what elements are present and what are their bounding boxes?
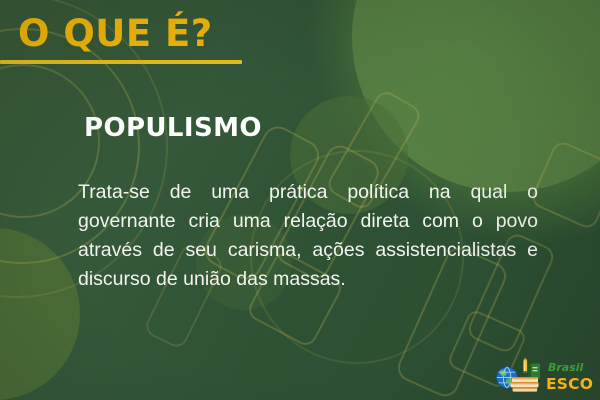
books-icon xyxy=(511,377,539,392)
content-block: POPULISMO Trata-se de uma prática políti… xyxy=(78,112,538,294)
pencil-icon xyxy=(523,357,527,373)
definition-paragraph: Trata-se de uma prática política na qual… xyxy=(78,178,538,294)
topic-heading: POPULISMO xyxy=(84,112,538,144)
logo-brand-top: Brasil xyxy=(548,361,584,374)
logo-brand-bottom: ESCOLA xyxy=(546,375,594,393)
slide-title: O QUE É? xyxy=(0,12,246,56)
brasil-escola-logo[interactable]: Brasil ESCOLA xyxy=(494,356,594,396)
slide-canvas: O QUE É? POPULISMO Trata-se de uma práti… xyxy=(0,0,600,400)
title-block: O QUE É? xyxy=(0,12,246,64)
green-book-icon xyxy=(528,364,540,380)
title-underline xyxy=(0,60,242,64)
